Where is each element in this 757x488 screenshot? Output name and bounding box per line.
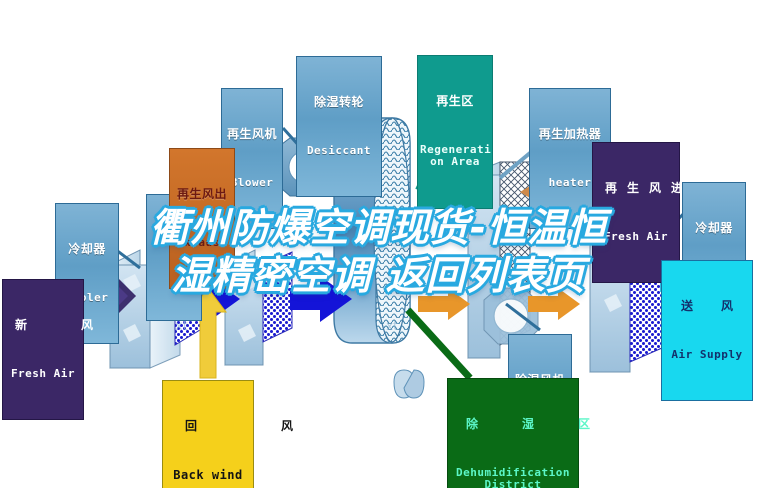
label-regeneration-heater-cn: 再生加热器 bbox=[532, 128, 608, 141]
label-desiccant-rotor-cn: 除湿转轮 bbox=[299, 96, 379, 109]
label-air-supply-cn: 送 风 bbox=[664, 300, 750, 313]
label-exhaust-en: Exhaust bbox=[172, 237, 232, 249]
label-fresh-air-intake[interactable]: 新 风 Fresh Air bbox=[2, 279, 84, 420]
label-exhaust-cn: 再生风出 bbox=[172, 188, 232, 201]
label-regeneration-area[interactable]: 再生区 Regenerati on Area bbox=[417, 55, 493, 209]
label-desiccant-rotor-en: Desiccant bbox=[299, 145, 379, 157]
small-watermark: xt bbox=[175, 319, 188, 334]
label-regen-fresh-air-en: Fresh Air bbox=[595, 231, 677, 243]
label-regeneration-area-cn: 再生区 bbox=[420, 95, 490, 108]
diagram-canvas: xt xt 除湿转轮 Desiccant 再生风机 Blower 再生区 Reg… bbox=[0, 0, 757, 488]
label-cooler-left-cn: 冷却器 bbox=[58, 243, 116, 256]
label-dehumidification-district[interactable]: 除 湿 区 Dehumidification District bbox=[447, 378, 579, 488]
label-dehum-district-cn: 除 湿 区 bbox=[450, 418, 576, 431]
label-fresh-air-intake-cn: 新 风 bbox=[5, 319, 81, 332]
label-dehum-district-en: Dehumidification District bbox=[450, 467, 576, 488]
label-desiccant-rotor[interactable]: 除湿转轮 Desiccant bbox=[296, 56, 382, 197]
label-back-wind[interactable]: 回 风 Back wind bbox=[162, 380, 254, 488]
label-back-wind-en: Back wind bbox=[165, 469, 251, 482]
label-air-supply[interactable]: 送 风 Air Supply bbox=[661, 260, 753, 401]
label-regeneration-exhaust[interactable]: 再生风出 Exhaust bbox=[169, 148, 235, 289]
arrow-dry-air-1 bbox=[418, 288, 470, 320]
label-air-supply-en: Air Supply bbox=[664, 349, 750, 361]
label-back-wind-cn: 回 风 bbox=[165, 420, 251, 433]
label-fresh-air-intake-en: Fresh Air bbox=[5, 368, 81, 380]
label-regeneration-area-en: Regenerati on Area bbox=[420, 144, 490, 169]
label-regeneration-blower-cn: 再生风机 bbox=[224, 128, 280, 141]
label-regen-fresh-air-cn: 再生风进 bbox=[595, 182, 677, 195]
cooling-coil-middle bbox=[225, 250, 292, 365]
svg-text:xt: xt bbox=[386, 319, 398, 333]
label-cooler-right-cn: 冷却器 bbox=[685, 222, 743, 235]
